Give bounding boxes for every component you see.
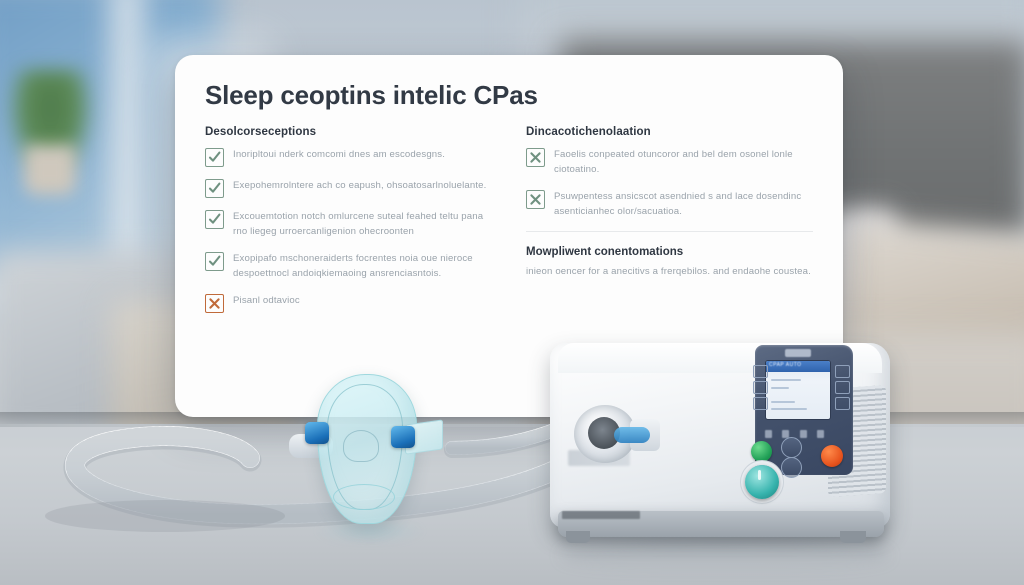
left-column: Desolcorseceptions Inoripltoui nderk com… bbox=[205, 126, 492, 324]
alarm-button[interactable] bbox=[821, 445, 843, 467]
control-panel[interactable]: CPAP AUTO bbox=[755, 345, 853, 475]
section-divider bbox=[526, 231, 813, 232]
list-item: Exepohemrolntere ach co eapush, ohsoatos… bbox=[205, 178, 492, 198]
mask-cushion-rim bbox=[333, 484, 395, 510]
soft-key-left-1[interactable] bbox=[753, 365, 768, 378]
lcd-text-line bbox=[771, 379, 801, 381]
cross-icon bbox=[526, 190, 545, 209]
check-icon bbox=[205, 179, 224, 198]
lcd-text-line bbox=[771, 387, 789, 389]
lcd-header-text: CPAP AUTO bbox=[769, 362, 802, 368]
list-item-text: Exopipafo mschoneraiderts focrentes noia… bbox=[233, 251, 492, 282]
cross-icon bbox=[526, 148, 545, 167]
cpap-mask bbox=[295, 372, 485, 552]
check-icon bbox=[205, 210, 224, 229]
lcd-text-line bbox=[771, 401, 795, 403]
status-indicator-row bbox=[765, 425, 843, 435]
list-item: Excouemtotion notch omlurcene suteal fea… bbox=[205, 209, 492, 240]
machine-air-outlet bbox=[574, 401, 658, 467]
right-column-heading: Dincacotichenolaation bbox=[526, 126, 813, 138]
sub-section-heading: Mowpliwent conentomations bbox=[526, 246, 813, 258]
cpap-machine: CPAP AUTO bbox=[540, 325, 910, 560]
machine-reflection bbox=[560, 539, 890, 573]
list-item: Psuwpentess ansicscot asendnied s and la… bbox=[526, 189, 813, 220]
page-title: Sleep ceoptins intelic CPas bbox=[205, 81, 813, 110]
mask-nose-bridge bbox=[343, 430, 379, 462]
plant-pot bbox=[24, 145, 76, 195]
machine-foot-right bbox=[840, 531, 866, 543]
lcd-text-line bbox=[771, 408, 807, 410]
menu-button[interactable] bbox=[781, 457, 802, 478]
control-dial[interactable] bbox=[745, 465, 779, 499]
mask-clip-left bbox=[305, 422, 329, 444]
indicator-icon bbox=[817, 430, 824, 438]
left-column-heading: Desolcorseceptions bbox=[205, 126, 492, 138]
brand-logo-icon bbox=[785, 349, 811, 357]
outlet-blue-collar bbox=[614, 427, 650, 443]
list-item-text: Inoripltoui nderk comcomi dnes am escode… bbox=[233, 147, 492, 163]
list-item: Exopipafo mschoneraiderts focrentes noia… bbox=[205, 251, 492, 282]
list-item-text: Exepohemrolntere ach co eapush, ohsoatos… bbox=[233, 178, 492, 194]
list-item-text: Excouemtotion notch omlurcene suteal fea… bbox=[233, 209, 492, 240]
list-item: Faoelis conpeated otuncoror and bel dem … bbox=[526, 147, 813, 178]
machine-foot-left bbox=[566, 531, 590, 543]
soft-key-right-2[interactable] bbox=[835, 381, 850, 394]
device-lcd-screen: CPAP AUTO bbox=[765, 360, 831, 420]
list-item: Inoripltoui nderk comcomi dnes am escode… bbox=[205, 147, 492, 167]
sub-section-text: inieon oencer for a anecitivs a frerqebi… bbox=[526, 264, 813, 280]
ramp-button[interactable] bbox=[781, 437, 802, 458]
mask-clip-right bbox=[391, 426, 415, 448]
power-button[interactable] bbox=[751, 441, 772, 462]
soft-key-left-2[interactable] bbox=[753, 381, 768, 394]
indicator-icon bbox=[800, 430, 807, 438]
right-column: Dincacotichenolaation Faoelis conpeated … bbox=[526, 126, 813, 324]
machine-label-strip bbox=[562, 511, 640, 519]
indicator-icon bbox=[765, 430, 772, 438]
screenshot-stage: Sleep ceoptins intelic CPas Desolcorsece… bbox=[0, 0, 1024, 585]
soft-key-right-1[interactable] bbox=[835, 365, 850, 378]
list-item-text: Psuwpentess ansicscot asendnied s and la… bbox=[554, 189, 813, 220]
check-icon bbox=[205, 148, 224, 167]
check-icon bbox=[205, 252, 224, 271]
soft-key-left-3[interactable] bbox=[753, 397, 768, 410]
list-item-text: Faoelis conpeated otuncoror and bel dem … bbox=[554, 147, 813, 178]
soft-key-right-3[interactable] bbox=[835, 397, 850, 410]
